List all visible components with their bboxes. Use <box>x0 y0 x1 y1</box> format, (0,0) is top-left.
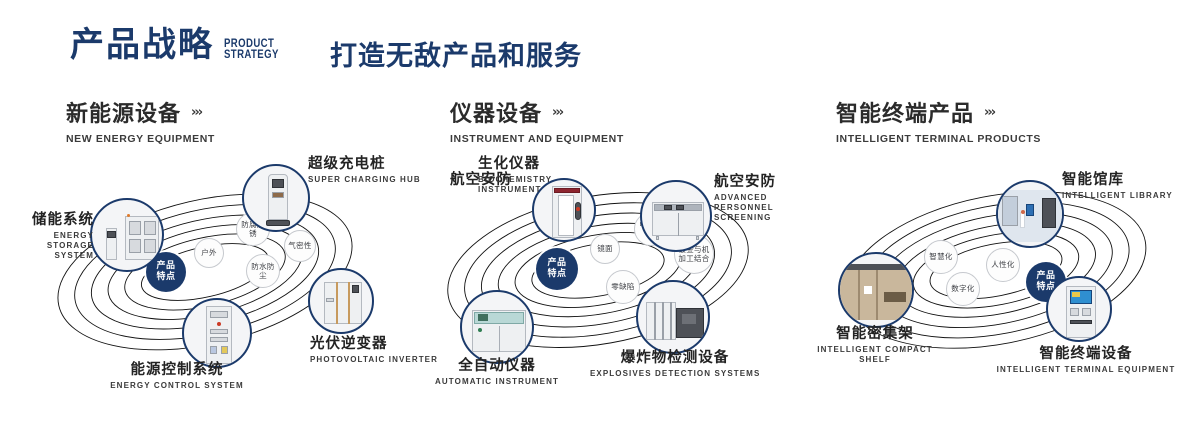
section-title-cn-wrap: 智能终端产品 ››› <box>836 96 1041 128</box>
diagram-intelligent-terminal: 产品 特点 智慧化 数字化 人性化 智能馆库 INTELLIGENT LIBRA… <box>800 150 1200 400</box>
intelligent-terminal-equipment-image <box>1048 278 1110 340</box>
label-automatic-instrument: 全自动仪器 AUTOMATIC INSTRUMENT <box>422 358 572 387</box>
page-title-en-line2: STRATEGY <box>224 49 279 60</box>
section-heading-intelligent-terminal: 智能终端产品 ››› INTELLIGENT TERMINAL PRODUCTS <box>836 96 1041 145</box>
energy-storage-system-image <box>92 200 162 270</box>
node-explosives-detection-systems[interactable] <box>636 280 710 354</box>
poster-canvas: 产品战略 PRODUCT STRATEGY 打造无敌产品和服务 新能源设备 ››… <box>0 0 1200 422</box>
feature-bubble-airtight: 气密性 <box>284 230 316 262</box>
label-cn: 生化仪器 <box>478 156 564 173</box>
section-title-cn: 仪器设备 <box>450 96 542 128</box>
feature-bubble-outdoor: 户外 <box>194 238 224 268</box>
node-intelligent-terminal-equipment[interactable] <box>1046 276 1112 342</box>
label-cn: 航空安防 <box>714 174 802 191</box>
advanced-personnel-screening-image <box>642 182 710 250</box>
node-intelligent-library[interactable] <box>996 180 1064 248</box>
section-heading-instrument: 仪器设备 ››› INSTRUMENT AND EQUIPMENT <box>450 96 624 145</box>
diagram-new-energy: 产品 特点 户外 防腐防锈 防水防尘 气密性 储能系统 ENERGY STORA… <box>20 150 420 400</box>
label-en: AUTOMATIC INSTRUMENT <box>422 377 572 387</box>
node-automatic-instrument[interactable] <box>460 290 534 364</box>
label-en: ENERGY STORAGE SYSTEM <box>8 231 94 261</box>
automatic-instrument-image <box>462 292 532 362</box>
label-intelligent-compact-shelf: 智能密集架 INTELLIGENT COMPACT SHELF <box>810 326 940 365</box>
node-photovoltaic-inverter[interactable] <box>308 268 374 334</box>
photovoltaic-inverter-image <box>310 270 372 332</box>
chevron-right-icon: ››› <box>984 105 994 120</box>
feature-bubble-waterproof: 防水防尘 <box>246 254 280 288</box>
label-cn: 超级充电桩 <box>308 156 421 173</box>
diagram-instrument: 产品 特点 镜面 电解抛光 钣金与机加工结合 零缺陷 航空安防 生化仪器 BIO… <box>408 150 808 400</box>
page-title-cn: 产品战略 <box>70 28 214 62</box>
intelligent-compact-shelf-image <box>840 254 912 326</box>
label-en: ADVANCED PERSONNEL SCREENING <box>714 193 802 223</box>
core-bubble-line2: 特点 <box>547 269 566 280</box>
chevron-right-icon: ››› <box>191 105 201 120</box>
node-advanced-personnel-screening[interactable] <box>640 180 712 252</box>
page-title: 产品战略 PRODUCT STRATEGY <box>70 28 292 62</box>
node-energy-storage-system[interactable] <box>90 198 164 272</box>
label-advanced-personnel-screening: 航空安防 ADVANCED PERSONNEL SCREENING <box>714 174 802 223</box>
section-title-cn: 智能终端产品 <box>836 96 974 128</box>
label-biochemistry-instrument: 生化仪器 BIOCHEMISTRY INSTRUMENT <box>478 156 564 195</box>
label-cn: 智能密集架 <box>810 326 940 343</box>
core-bubble-product-features: 产品 特点 <box>536 248 578 290</box>
label-explosives-detection-systems: 爆炸物检测设备 EXPLOSIVES DETECTION SYSTEMS <box>590 350 760 379</box>
feature-bubble-humanized: 人性化 <box>986 248 1020 282</box>
core-bubble-line2: 特点 <box>156 272 175 283</box>
label-cn: 储能系统 <box>8 212 94 229</box>
label-en: BIOCHEMISTRY INSTRUMENT <box>478 175 564 195</box>
label-cn: 全自动仪器 <box>422 358 572 375</box>
explosives-detection-systems-image <box>638 282 708 352</box>
feature-bubble-intelligent: 智慧化 <box>924 240 958 274</box>
label-energy-control-system: 能源控制系统 ENERGY CONTROL SYSTEM <box>82 362 272 391</box>
label-cn: 能源控制系统 <box>82 362 272 379</box>
section-title-en: NEW ENERGY EQUIPMENT <box>66 133 215 145</box>
label-en: INTELLIGENT COMPACT SHELF <box>810 345 940 365</box>
section-title-cn-wrap: 仪器设备 ››› <box>450 96 624 128</box>
node-super-charging-hub[interactable] <box>242 164 310 232</box>
feature-bubble-digital: 数字化 <box>946 272 980 306</box>
core-bubble-line1: 产品 <box>547 258 566 269</box>
node-intelligent-compact-shelf[interactable] <box>838 252 914 328</box>
energy-control-system-image <box>184 300 250 366</box>
feature-bubble-mirror: 镜面 <box>590 234 620 264</box>
feature-bubble-zero-defect: 零缺陷 <box>606 270 640 304</box>
section-title-cn-wrap: 新能源设备 ››› <box>66 96 215 128</box>
label-en: EXPLOSIVES DETECTION SYSTEMS <box>590 369 760 379</box>
chevron-right-icon: ››› <box>552 105 562 120</box>
label-cn: 智能馆库 <box>1062 172 1173 189</box>
label-en: ENERGY CONTROL SYSTEM <box>82 381 272 391</box>
label-energy-storage-system: 储能系统 ENERGY STORAGE SYSTEM <box>8 212 94 261</box>
page-subtitle: 打造无敌产品和服务 <box>330 34 582 73</box>
page-title-en: PRODUCT STRATEGY <box>224 38 279 60</box>
label-en: INTELLIGENT LIBRARY <box>1062 191 1173 201</box>
node-energy-control-system[interactable] <box>182 298 252 368</box>
label-cn: 爆炸物检测设备 <box>590 350 760 367</box>
intelligent-library-image <box>998 182 1062 246</box>
super-charging-hub-image <box>244 166 308 230</box>
label-intelligent-library: 智能馆库 INTELLIGENT LIBRARY <box>1062 172 1173 201</box>
label-intelligent-terminal-equipment: 智能终端设备 INTELLIGENT TERMINAL EQUIPMENT <box>996 346 1176 375</box>
section-heading-new-energy: 新能源设备 ››› NEW ENERGY EQUIPMENT <box>66 96 215 145</box>
section-title-en: INTELLIGENT TERMINAL PRODUCTS <box>836 133 1041 145</box>
label-cn: 智能终端设备 <box>996 346 1176 363</box>
section-title-en: INSTRUMENT AND EQUIPMENT <box>450 133 624 145</box>
section-title-cn: 新能源设备 <box>66 96 181 128</box>
label-en: INTELLIGENT TERMINAL EQUIPMENT <box>996 365 1176 375</box>
